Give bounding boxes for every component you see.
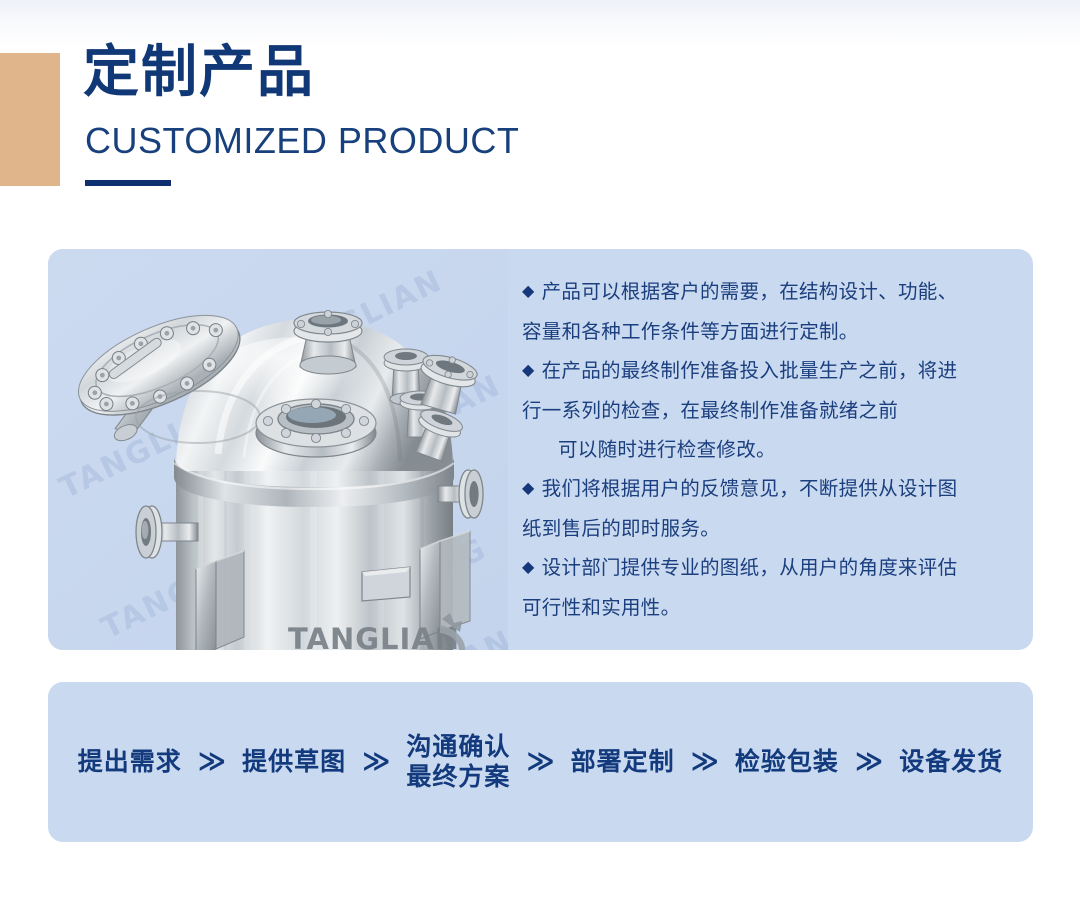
header-accent-bar bbox=[0, 53, 60, 186]
chevron-separator-icon: ≫ bbox=[519, 747, 561, 777]
process-step-2[interactable]: 提供草图 bbox=[233, 747, 355, 777]
process-step-label: 提供草图 bbox=[242, 747, 346, 776]
process-step-label: 沟通确认 bbox=[406, 732, 510, 761]
svg-text:TANGLIAN: TANGLIAN bbox=[288, 622, 460, 650]
process-step-6[interactable]: 设备发货 bbox=[890, 747, 1012, 777]
bullet-item-continuation: 可行性和实用性。 bbox=[522, 588, 1022, 627]
diamond-bullet-icon: ◆ bbox=[522, 281, 535, 300]
product-image: TANGLIAN TANGLIAN TANG TANGLIAN TANGLIAN… bbox=[48, 249, 508, 650]
chevron-separator-icon: ≫ bbox=[684, 747, 726, 777]
diamond-bullet-icon: ◆ bbox=[522, 557, 535, 576]
page-root: 定制产品 CUSTOMIZED PRODUCT bbox=[0, 0, 1080, 905]
page-header: 定制产品 CUSTOMIZED PRODUCT bbox=[0, 0, 1080, 240]
process-step-1[interactable]: 提出需求 bbox=[69, 747, 191, 777]
feature-bullet-list: ◆产品可以根据客户的需要，在结构设计、功能、 容量和各种工作条件等方面进行定制。… bbox=[522, 272, 1022, 627]
bullet-item-continuation: 行一系列的检查，在最终制作准备就绪之前 bbox=[522, 391, 1022, 430]
page-title-cn: 定制产品 bbox=[83, 44, 315, 103]
process-step-label: 设备发货 bbox=[899, 747, 1003, 776]
process-flow-panel: 提出需求 ≫ 提供草图 ≫ 沟通确认 最终方案 ≫ 部署定制 ≫ 检验包装 ≫ … bbox=[48, 682, 1033, 842]
process-step-label: 检验包装 bbox=[735, 747, 839, 776]
process-step-label: 提出需求 bbox=[78, 747, 182, 776]
process-step-3[interactable]: 沟通确认 最终方案 bbox=[397, 732, 519, 792]
feature-panel: TANGLIAN TANGLIAN TANG TANGLIAN TANGLIAN… bbox=[48, 249, 1033, 650]
chevron-separator-icon: ≫ bbox=[355, 747, 397, 777]
bullet-item: ◆在产品的最终制作准备投入批量生产之前，将进 bbox=[522, 351, 1022, 391]
process-step-label: 部署定制 bbox=[571, 747, 675, 776]
bullet-text: 我们将根据用户的反馈意见，不断提供从设计图 bbox=[542, 477, 958, 500]
process-step-5[interactable]: 检验包装 bbox=[726, 747, 848, 777]
bullet-text: 设计部门提供专业的图纸，从用户的角度来评估 bbox=[542, 556, 958, 579]
bullet-item: ◆产品可以根据客户的需要，在结构设计、功能、 bbox=[522, 272, 1022, 312]
chevron-separator-icon: ≫ bbox=[848, 747, 890, 777]
process-step-row: 提出需求 ≫ 提供草图 ≫ 沟通确认 最终方案 ≫ 部署定制 ≫ 检验包装 ≫ … bbox=[48, 682, 1033, 842]
process-step-4[interactable]: 部署定制 bbox=[562, 747, 684, 777]
diamond-bullet-icon: ◆ bbox=[522, 360, 535, 379]
diamond-bullet-icon: ◆ bbox=[522, 478, 535, 497]
bullet-item-continuation: 纸到售后的即时服务。 bbox=[522, 509, 1022, 548]
bullet-text: 在产品的最终制作准备投入批量生产之前，将进 bbox=[542, 359, 958, 382]
title-underline-rule bbox=[85, 180, 171, 186]
bullet-item-continuation: 可以随时进行检查修改。 bbox=[522, 430, 1022, 469]
bullet-text: 产品可以根据客户的需要，在结构设计、功能、 bbox=[542, 280, 958, 303]
chevron-separator-icon: ≫ bbox=[191, 747, 233, 777]
bullet-item: ◆设计部门提供专业的图纸，从用户的角度来评估 bbox=[522, 548, 1022, 588]
page-title-en: CUSTOMIZED PRODUCT bbox=[85, 121, 519, 161]
bullet-item: ◆我们将根据用户的反馈意见，不断提供从设计图 bbox=[522, 469, 1022, 509]
process-step-label-line2: 最终方案 bbox=[406, 762, 510, 792]
bullet-item-continuation: 容量和各种工作条件等方面进行定制。 bbox=[522, 312, 1022, 351]
